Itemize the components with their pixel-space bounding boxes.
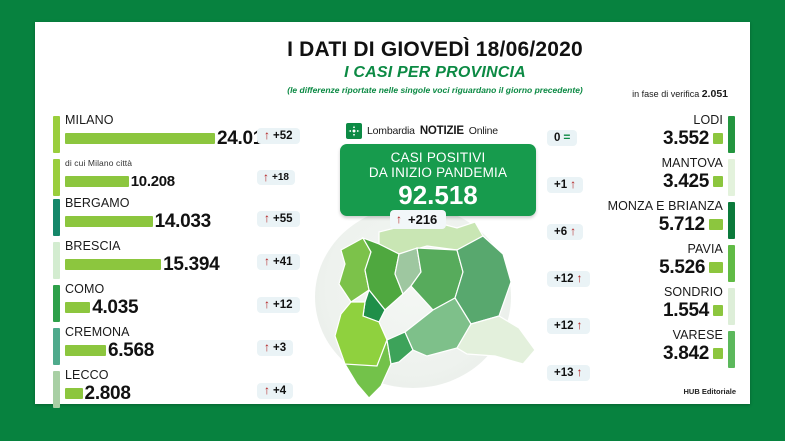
- province-color-tab-brescia: [53, 242, 60, 279]
- province-color-tab-como: [53, 285, 60, 322]
- lombardy-rose-icon: [346, 123, 362, 139]
- delta-badge-mantova: +1↑: [547, 177, 583, 193]
- delta-slot-milano: ↑+52: [257, 114, 300, 157]
- delta-slot-varese: +13↑: [547, 349, 590, 396]
- page-subtitle: I CASI PER PROVINCIA: [235, 64, 635, 82]
- province-bar-mantova: [713, 176, 723, 187]
- province-value-cremona: 6.568: [108, 341, 154, 360]
- province-color-tab-milano: [53, 116, 60, 153]
- delta-slot-pavia: +12↑: [547, 255, 590, 302]
- province-row-como: COMO4.035: [53, 283, 258, 326]
- province-value-pavia: 5.526: [659, 258, 705, 277]
- delta-badge-como: ↑+12: [257, 297, 300, 313]
- delta-slot-bergamo: ↑+55: [257, 197, 300, 240]
- delta-badge-bergamo: ↑+55: [257, 211, 300, 227]
- in-verifica-value: 2.051: [702, 88, 728, 100]
- delta-badge-lecco: ↑+4: [257, 383, 293, 399]
- delta-slot-monza-e-brianza: +6↑: [547, 208, 590, 255]
- delta-slot-brescia: ↑+41: [257, 240, 300, 283]
- province-value-mantova: 3.425: [663, 172, 709, 191]
- up-arrow-icon: ↑: [577, 273, 583, 284]
- up-arrow-icon: ↑: [264, 256, 270, 267]
- delta-slot-sondrio: +12↑: [547, 302, 590, 349]
- up-arrow-icon: ↑: [396, 214, 402, 225]
- province-color-tab-pavia: [728, 245, 735, 282]
- province-value-sondrio: 1.554: [663, 301, 709, 320]
- province-value-lecco: 2.808: [85, 384, 131, 403]
- province-name-cremona: CREMONA: [65, 326, 258, 339]
- province-row-brescia: BRESCIA15.394: [53, 240, 258, 283]
- province-bar-di-cui-milano-citt: [65, 176, 129, 187]
- delta-badge-brescia: ↑+41: [257, 254, 300, 270]
- province-row-di-cui-milano-citt: di cui Milano città10.208: [53, 157, 258, 197]
- page-title: I DATI DI GIOVEDÌ 18/06/2020: [235, 38, 635, 62]
- province-bar-brescia: [65, 259, 161, 270]
- province-color-tab-varese: [728, 331, 735, 368]
- infographic-frame: I DATI DI GIOVEDÌ 18/06/2020 I CASI PER …: [0, 0, 785, 441]
- province-name-brescia: BRESCIA: [65, 240, 258, 253]
- up-arrow-icon: ↑: [264, 213, 270, 224]
- province-bar-cremona: [65, 345, 106, 356]
- left-province-column: MILANO24.018di cui Milano città10.208BER…: [53, 114, 258, 412]
- province-row-bergamo: BERGAMO14.033: [53, 197, 258, 240]
- delta-value-pavia: +12: [554, 273, 574, 285]
- province-name-milano: MILANO: [65, 114, 258, 127]
- delta-value-bergamo: +55: [273, 213, 293, 225]
- delta-badge-varese: +13↑: [547, 365, 590, 381]
- delta-slot-di-cui-milano-citt: ↑+18: [257, 157, 300, 197]
- province-value-lodi: 3.552: [663, 129, 709, 148]
- province-value-como: 4.035: [92, 298, 138, 317]
- header-note: (le differenze riportate nelle singole v…: [235, 85, 635, 95]
- delta-slot-cremona: ↑+3: [257, 326, 300, 369]
- total-delta-badge: ↑ +216: [390, 210, 446, 229]
- province-bar-lodi: [713, 133, 723, 144]
- province-name-bergamo: BERGAMO: [65, 197, 258, 210]
- total-label-line2: DA INIZIO PANDEMIA: [344, 165, 532, 180]
- logo-text-online: Online: [469, 125, 498, 137]
- province-value-monza-e-brianza: 5.712: [659, 215, 705, 234]
- up-arrow-icon: ↑: [263, 172, 269, 183]
- province-value-brescia: 15.394: [163, 255, 219, 274]
- up-arrow-icon: ↑: [264, 385, 270, 396]
- province-color-tab-lecco: [53, 371, 60, 408]
- up-arrow-icon: ↑: [264, 342, 270, 353]
- in-verifica-note: in fase di verifica 2.051: [632, 88, 728, 100]
- province-color-tab-mantova: [728, 159, 735, 196]
- delta-value-sondrio: +12: [554, 320, 574, 332]
- province-color-tab-bergamo: [53, 199, 60, 236]
- up-arrow-icon: ↑: [577, 320, 583, 331]
- province-bar-milano: [65, 133, 215, 144]
- delta-badge-pavia: +12↑: [547, 271, 590, 287]
- province-bar-bergamo: [65, 216, 153, 227]
- province-color-tab-monza-e-brianza: [728, 202, 735, 239]
- up-arrow-icon: ↑: [264, 130, 270, 141]
- province-color-tab-lodi: [728, 116, 735, 153]
- up-arrow-icon: ↑: [570, 226, 576, 237]
- total-cases-value: 92.518: [344, 181, 532, 209]
- delta-badge-cremona: ↑+3: [257, 340, 293, 356]
- lombardia-notizie-logo: Lombardia NOTIZIE Online: [346, 123, 498, 139]
- logo-text-notizie: NOTIZIE: [420, 125, 464, 137]
- delta-value-varese: +13: [554, 367, 574, 379]
- total-cases-box: CASI POSITIVI DA INIZIO PANDEMIA 92.518: [340, 144, 536, 216]
- delta-slot-mantova: +1↑: [547, 161, 590, 208]
- header: I DATI DI GIOVEDÌ 18/06/2020 I CASI PER …: [235, 38, 635, 95]
- province-row-lecco: LECCO2.808: [53, 369, 258, 412]
- left-delta-column: ↑+52↑+18↑+55↑+41↑+12↑+3↑+4: [257, 114, 300, 412]
- equals-icon: =: [563, 132, 570, 143]
- delta-badge-lodi: 0=: [547, 130, 577, 146]
- province-value-varese: 3.842: [663, 344, 709, 363]
- province-bar-varese: [713, 348, 723, 359]
- province-value-bergamo: 14.033: [155, 212, 211, 231]
- province-name-di-cui-milano-citt: di cui Milano città: [65, 157, 258, 170]
- content-card: I DATI DI GIOVEDÌ 18/06/2020 I CASI PER …: [35, 22, 750, 404]
- province-bar-lecco: [65, 388, 83, 399]
- delta-slot-lecco: ↑+4: [257, 369, 300, 412]
- delta-value-como: +12: [273, 299, 293, 311]
- delta-value-di-cui-milano-citt: +18: [272, 172, 289, 183]
- province-bar-monza-e-brianza: [709, 219, 723, 230]
- province-color-tab-cremona: [53, 328, 60, 365]
- province-row-cremona: CREMONA6.568: [53, 326, 258, 369]
- province-color-tab-di-cui-milano-citt: [53, 159, 60, 196]
- delta-value-lodi: 0: [554, 132, 560, 144]
- delta-value-brescia: +41: [273, 256, 293, 268]
- delta-value-cremona: +3: [273, 342, 286, 354]
- province-bar-pavia: [709, 262, 723, 273]
- delta-value-milano: +52: [273, 130, 293, 142]
- delta-badge-sondrio: +12↑: [547, 318, 590, 334]
- delta-badge-monza-e-brianza: +6↑: [547, 224, 583, 240]
- up-arrow-icon: ↑: [577, 367, 583, 378]
- delta-badge-di-cui-milano-citt: ↑+18: [257, 170, 295, 185]
- province-value-di-cui-milano-citt: 10.208: [131, 172, 175, 191]
- logo-text-lombardia: Lombardia: [367, 125, 415, 137]
- province-row-milano: MILANO24.018: [53, 114, 258, 157]
- up-arrow-icon: ↑: [570, 179, 576, 190]
- up-arrow-icon: ↑: [264, 299, 270, 310]
- right-delta-column: 0=+1↑+6↑+12↑+12↑+13↑: [547, 114, 590, 396]
- total-delta-value: +216: [408, 212, 437, 227]
- total-label-line1: CASI POSITIVI: [344, 150, 532, 165]
- delta-slot-como: ↑+12: [257, 283, 300, 326]
- province-name-como: COMO: [65, 283, 258, 296]
- delta-badge-milano: ↑+52: [257, 128, 300, 144]
- delta-value-mantova: +1: [554, 179, 567, 191]
- province-color-tab-sondrio: [728, 288, 735, 325]
- delta-slot-lodi: 0=: [547, 114, 590, 161]
- province-bar-como: [65, 302, 90, 313]
- delta-value-monza-e-brianza: +6: [554, 226, 567, 238]
- in-verifica-label: in fase di verifica: [632, 89, 699, 99]
- credit-label: HUB Editoriale: [683, 387, 736, 396]
- province-bar-sondrio: [713, 305, 723, 316]
- province-name-lecco: LECCO: [65, 369, 258, 382]
- delta-value-lecco: +4: [273, 385, 286, 397]
